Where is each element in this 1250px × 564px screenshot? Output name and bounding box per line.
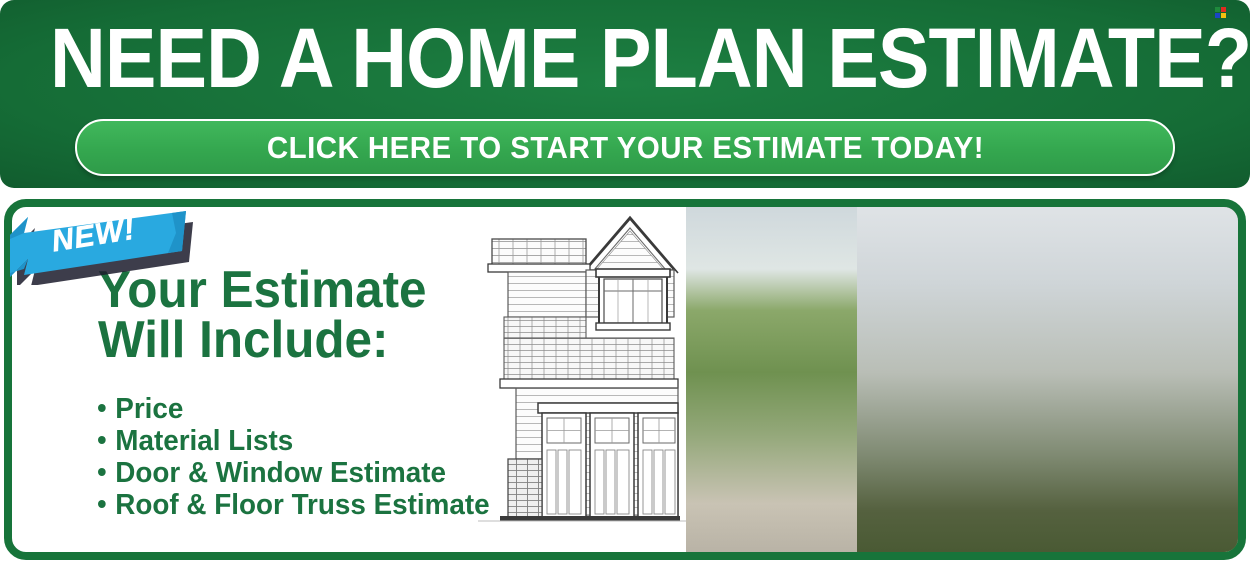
four-color-logo-icon: [1215, 7, 1226, 18]
finished-home-with-couple-photo: [857, 207, 1238, 552]
bullet-icon: [98, 404, 106, 412]
bullet-icon: [98, 500, 106, 508]
header-panel: NEED A HOME PLAN ESTIMATE? CLICK HERE TO…: [0, 0, 1250, 188]
start-estimate-button-label: CLICK HERE TO START YOUR ESTIMATE TODAY!: [266, 130, 983, 166]
page-title: NEED A HOME PLAN ESTIMATE?: [50, 10, 1200, 106]
list-item: Material Lists: [98, 425, 490, 457]
estimate-details-card: Your Estimate Will Include: Price Materi…: [4, 199, 1246, 560]
list-item: Roof & Floor Truss Estimate: [98, 489, 490, 521]
list-item-label: Door & Window Estimate: [115, 457, 446, 489]
list-item-label: Roof & Floor Truss Estimate: [115, 489, 489, 521]
home-plan-estimate-banner: NEED A HOME PLAN ESTIMATE? CLICK HERE TO…: [0, 0, 1250, 564]
list-item-label: Material Lists: [115, 425, 293, 457]
house-elevation-drawing: [478, 207, 686, 552]
list-item: Door & Window Estimate: [98, 457, 490, 489]
list-item: Price: [98, 393, 490, 425]
bullet-icon: [98, 436, 106, 444]
framing-construction-photo: [686, 207, 857, 552]
start-estimate-button[interactable]: CLICK HERE TO START YOUR ESTIMATE TODAY!: [75, 119, 1175, 176]
list-item-label: Price: [115, 393, 183, 425]
include-list: Price Material Lists Door & Window Estim…: [98, 393, 506, 521]
image-strip: [478, 207, 1238, 552]
bullet-icon: [98, 468, 106, 476]
include-heading: Your Estimate Will Include:: [98, 265, 427, 365]
